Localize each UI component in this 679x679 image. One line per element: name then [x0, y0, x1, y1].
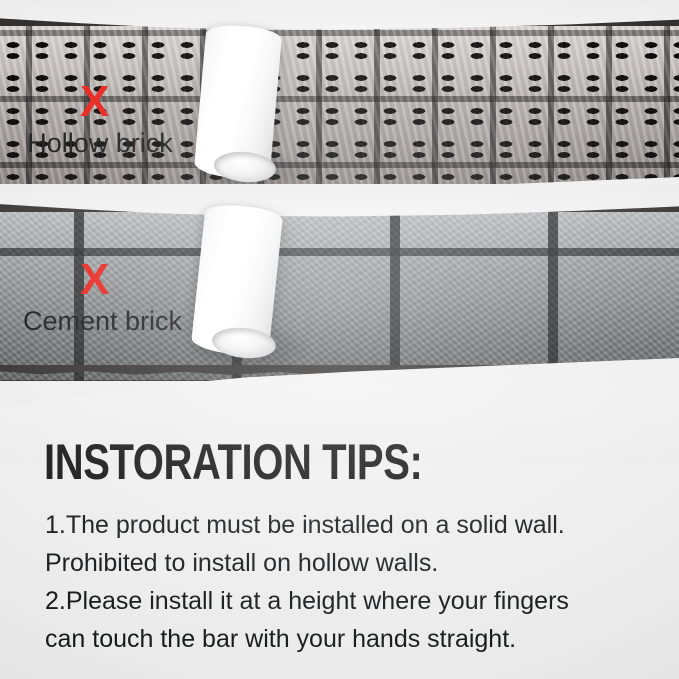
tips-line: 2.Please install it at a height where yo… [45, 582, 645, 620]
hollow-brick-label: Hollow brick [0, 130, 200, 157]
tips-heading: INSTORATION TIPS: [44, 437, 422, 487]
tips-line: can touch the bar with your hands straig… [45, 620, 645, 658]
x-icon-hollow-brick: X [80, 80, 108, 124]
cement-brick-label: Cement brick [0, 308, 205, 335]
tips-line: Prohibited to install on hollow walls. [45, 544, 645, 582]
tips-line: 1.The product must be installed on a sol… [45, 506, 645, 544]
infographic-canvas: X Hollow brick X Cement brick INSTORATIO… [0, 0, 679, 679]
tips-body: 1.The product must be installed on a sol… [45, 506, 645, 658]
x-icon-cement-brick: X [80, 258, 108, 302]
